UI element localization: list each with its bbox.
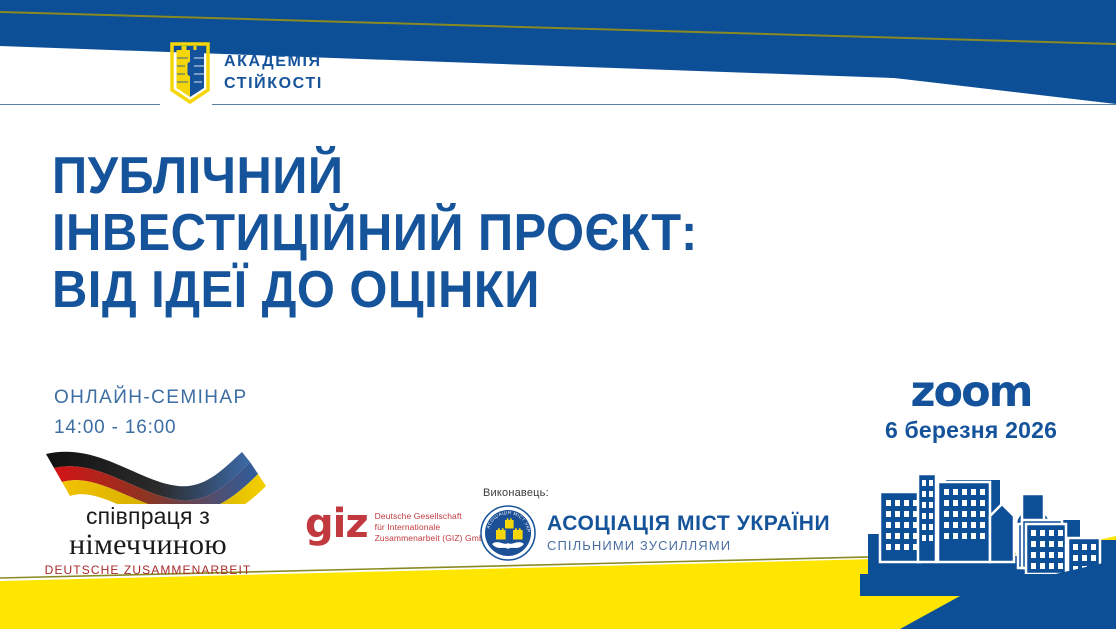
german-ukrainian-flag-ribbon-icon — [28, 446, 268, 504]
amu-slogan: СПІЛЬНИМИ ЗУСИЛЛЯМИ — [547, 536, 830, 555]
header-divider-left — [0, 104, 160, 105]
brand-line-2: СТІЙКОСТІ — [224, 73, 323, 95]
title-line-1: ПУБЛІЧНИЙ — [52, 148, 698, 205]
seminar-info: ОНЛАЙН-СЕМІНАР 14:00 - 16:00 — [54, 383, 248, 443]
amu-circular-emblem-icon: АСОЦІАЦІЯ МІСТ УКРАЇНИ — [480, 505, 536, 561]
brand-wordmark: АКАДЕМІЯ СТІЙКОСТІ — [224, 51, 323, 94]
giz-wordmark: giz — [305, 505, 368, 543]
title-line-2: ІНВЕСТИЦІЙНИЙ ПРОЄКТ: — [52, 205, 698, 262]
giz-sub-line-3: Zusammenarbeit (GIZ) GmbH — [375, 533, 490, 544]
brand-logo: АКАДЕМІЯ СТІЙКОСТІ — [168, 42, 323, 104]
giz-subtitle: Deutsche Gesellschaft für Internationale… — [375, 505, 490, 544]
castle-tower-icon — [168, 42, 212, 104]
zoom-logo: zoom — [876, 370, 1066, 414]
german-cooperation-logo: співпраця з німеччиною DEUTSCHE ZUSAMMEN… — [28, 446, 268, 578]
giz-sub-line-2: für Internationale — [375, 522, 490, 533]
cooperation-line-2: німеччиною — [28, 529, 268, 561]
giz-logo: giz Deutsche Gesellschaft für Internatio… — [305, 505, 490, 544]
amu-logo: АСОЦІАЦІЯ МІСТ УКРАЇНИ АСОЦІАЦІЯ МІСТ УК… — [480, 505, 830, 561]
header-divider-right — [212, 104, 1116, 105]
executor-label: Виконавець: — [483, 487, 549, 499]
platform-block: zoom 6 березня 2026 — [876, 370, 1066, 444]
cooperation-line-1: співпраця з — [28, 504, 268, 529]
cooperation-line-3: DEUTSCHE ZUSAMMENARBEIT — [28, 562, 268, 578]
amu-wordmark: АСОЦІАЦІЯ МІСТ УКРАЇНИ СПІЛЬНИМИ ЗУСИЛЛЯ… — [547, 512, 830, 555]
seminar-format: ОНЛАЙН-СЕМІНАР — [54, 383, 248, 413]
poster-canvas: АКАДЕМІЯ СТІЙКОСТІ ПУБЛІЧНИЙ ІНВЕСТИЦІЙН… — [0, 0, 1116, 629]
seminar-time: 14:00 - 16:00 — [54, 413, 248, 443]
header-divider — [0, 104, 1116, 106]
title-line-3: ВІД ІДЕЇ ДО ОЦІНКИ — [52, 262, 698, 319]
brand-line-1: АКАДЕМІЯ — [224, 51, 323, 73]
amu-name: АСОЦІАЦІЯ МІСТ УКРАЇНИ — [547, 512, 830, 536]
event-date: 6 березня 2026 — [876, 416, 1066, 444]
giz-sub-line-1: Deutsche Gesellschaft — [375, 511, 490, 522]
page-title: ПУБЛІЧНИЙ ІНВЕСТИЦІЙНИЙ ПРОЄКТ: ВІД ІДЕЇ… — [52, 148, 698, 319]
